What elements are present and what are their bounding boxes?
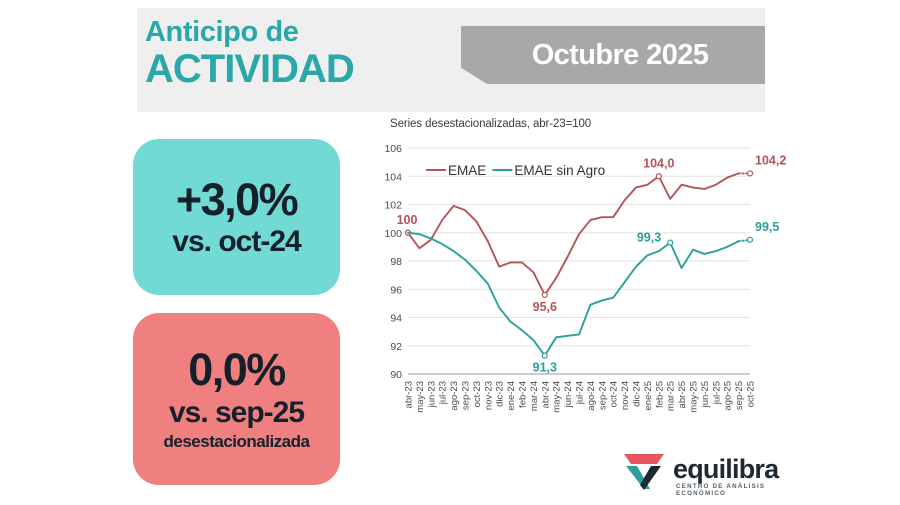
svg-text:feb-24: feb-24 (518, 381, 529, 408)
svg-text:feb-25: feb-25 (654, 381, 665, 408)
stat-subtitle-yoy: vs. oct-24 (172, 225, 300, 258)
svg-text:100: 100 (397, 213, 418, 227)
svg-text:jun-23: jun-23 (426, 381, 437, 408)
svg-text:jun-25: jun-25 (700, 381, 711, 408)
svg-text:may-23: may-23 (415, 381, 426, 413)
svg-text:abr-25: abr-25 (677, 381, 688, 408)
svg-text:90: 90 (390, 369, 402, 381)
header-title-line1: Anticipo de (145, 18, 445, 48)
svg-text:ene-24: ene-24 (506, 381, 517, 411)
svg-text:104: 104 (384, 171, 402, 183)
svg-text:sep-24: sep-24 (597, 381, 608, 410)
svg-text:may-25: may-25 (689, 381, 700, 413)
svg-text:jun-24: jun-24 (563, 381, 574, 408)
svg-text:oct-25: oct-25 (746, 381, 757, 407)
stat-value-mom: 0,0% (188, 346, 285, 393)
header-title-line2: ACTIVIDAD (145, 49, 445, 90)
month-badge-label: Octubre 2025 (518, 39, 709, 72)
svg-text:sep-25: sep-25 (734, 381, 745, 410)
stat-card-year-over-year: +3,0% vs. oct-24 (133, 139, 340, 295)
svg-text:95,6: 95,6 (533, 300, 557, 314)
equilibra-mark-icon (620, 452, 668, 492)
brand-logo: equilibra CENTRO DE ANÁLISIS ECONÓMICO (620, 452, 795, 496)
svg-text:106: 106 (384, 143, 402, 155)
svg-text:abr-23: abr-23 (404, 381, 415, 408)
svg-text:104,0: 104,0 (643, 156, 674, 170)
month-badge: Octubre 2025 (461, 26, 765, 84)
svg-text:ago-25: ago-25 (723, 381, 734, 411)
svg-text:jul-23: jul-23 (438, 381, 449, 405)
svg-text:dic-23: dic-23 (495, 381, 506, 407)
svg-text:102: 102 (384, 200, 402, 212)
svg-text:94: 94 (390, 313, 402, 325)
svg-text:ago-24: ago-24 (586, 381, 597, 411)
svg-text:jul-24: jul-24 (575, 381, 586, 405)
svg-text:nov-23: nov-23 (483, 381, 494, 410)
svg-text:EMAE sin Agro: EMAE sin Agro (514, 163, 605, 178)
svg-text:ene-25: ene-25 (643, 381, 654, 411)
svg-text:100: 100 (384, 228, 402, 240)
logo-wordmark: equilibra (673, 454, 778, 485)
chart-subtitle: Series desestacionalizadas, abr-23=100 (390, 118, 591, 130)
stat-value-yoy: +3,0% (176, 176, 297, 223)
svg-text:oct-23: oct-23 (472, 381, 483, 407)
svg-text:abr-24: abr-24 (540, 381, 551, 408)
svg-text:104,2: 104,2 (755, 153, 786, 167)
stat-note-mom: desestacionalizada (164, 432, 310, 452)
svg-text:96: 96 (390, 284, 402, 296)
svg-text:98: 98 (390, 256, 402, 268)
chart-panel: Series desestacionalizadas, abr-23=100 9… (378, 118, 798, 458)
svg-text:ago-23: ago-23 (449, 381, 460, 411)
line-chart: 9092949698100102104106abr-23may-23jun-23… (378, 132, 798, 458)
svg-text:oct-24: oct-24 (609, 381, 620, 407)
svg-text:sep-23: sep-23 (461, 381, 472, 410)
svg-text:99,5: 99,5 (755, 220, 779, 234)
stat-card-month-over-month: 0,0% vs. sep-25 desestacionalizada (133, 313, 340, 485)
svg-text:may-24: may-24 (552, 381, 563, 413)
svg-text:99,3: 99,3 (637, 231, 661, 245)
header-title: Anticipo de ACTIVIDAD (145, 18, 445, 89)
svg-text:92: 92 (390, 341, 402, 353)
svg-text:jul-25: jul-25 (711, 381, 722, 405)
svg-text:91,3: 91,3 (533, 361, 557, 375)
svg-text:mar-25: mar-25 (666, 381, 677, 411)
svg-text:nov-24: nov-24 (620, 381, 631, 410)
svg-text:dic-24: dic-24 (632, 381, 643, 407)
svg-text:mar-24: mar-24 (529, 381, 540, 411)
logo-tagline: CENTRO DE ANÁLISIS ECONÓMICO (676, 483, 795, 497)
svg-text:EMAE: EMAE (448, 163, 486, 178)
stat-subtitle-mom: vs. sep-25 (169, 396, 304, 429)
